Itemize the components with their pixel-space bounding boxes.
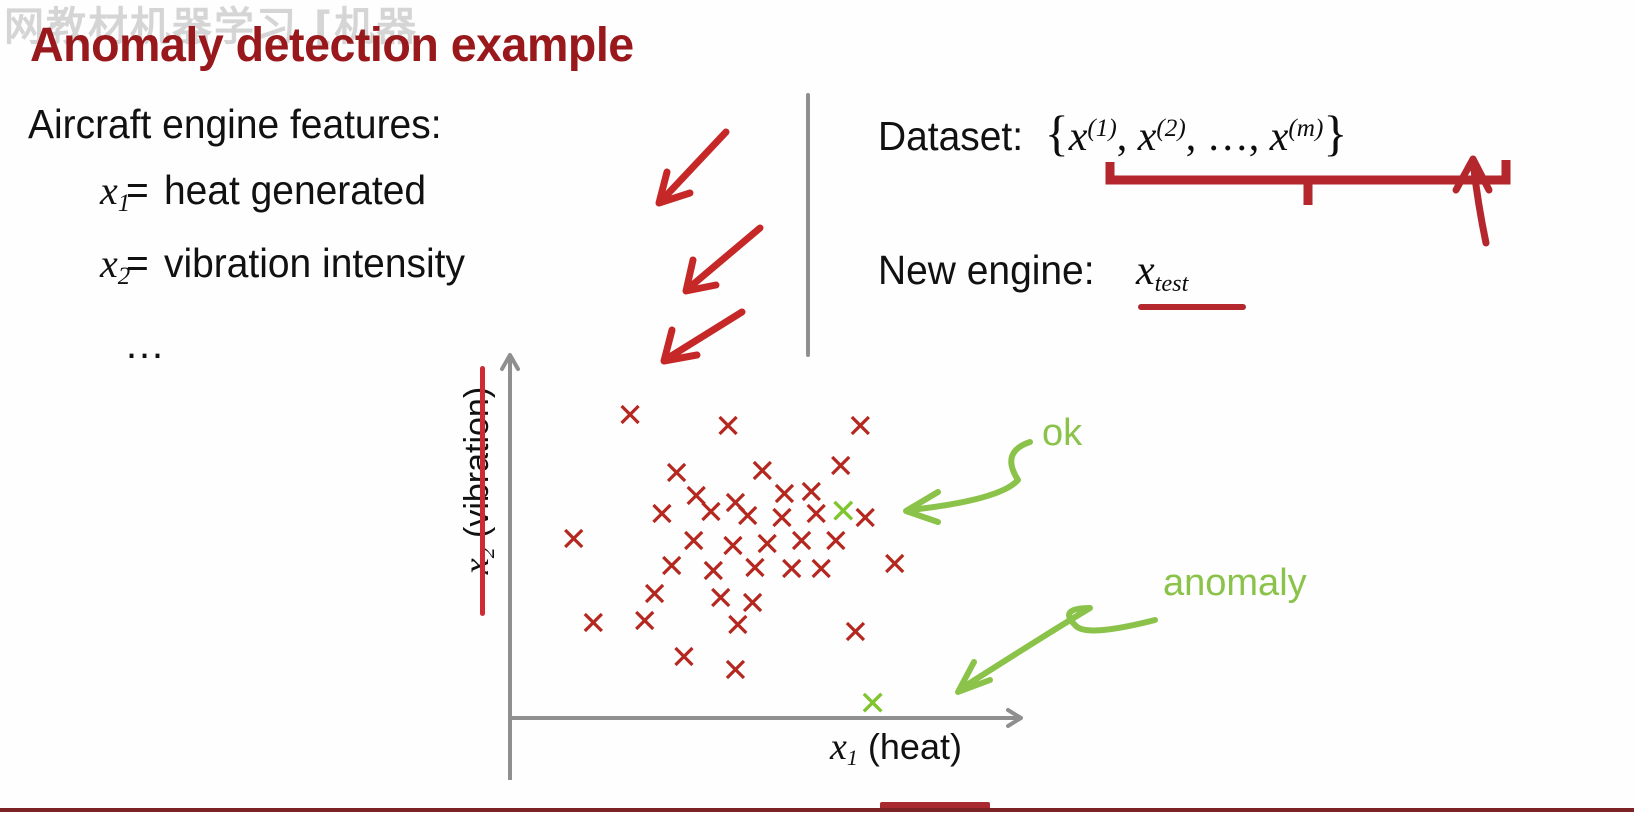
scatter-marker: ✕ <box>807 553 835 586</box>
bottom-rule <box>0 808 1634 812</box>
scatter-marker: ✕ <box>827 449 855 482</box>
scatter-marker: ✕ <box>700 555 728 588</box>
scatter-marker: ✕ <box>734 499 762 532</box>
scatter-marker: ✕ <box>663 456 691 489</box>
xtest-underline <box>1138 304 1246 310</box>
scatter-marker: ✕ <box>741 551 769 584</box>
scatter-marker-highlight: ✕ <box>858 687 887 721</box>
x-axis-label: x1 (heat) <box>830 725 962 771</box>
scatter-marker: ✕ <box>768 501 796 534</box>
annotation-label-anomaly: anomaly <box>1163 562 1307 605</box>
y-axis-label: x2 (vibration) <box>455 387 500 574</box>
scatter-marker: ✕ <box>670 641 698 674</box>
scatter-marker: ✕ <box>680 524 708 557</box>
scatter-marker: ✕ <box>881 548 909 581</box>
feature-variable-x2: x2 <box>28 240 126 291</box>
dataset-set-notation: {x(1), x(2), …, x(m)} <box>1045 104 1348 162</box>
scatter-marker: ✕ <box>851 501 879 534</box>
scatter-marker: ✕ <box>560 523 588 556</box>
feature-equals-x1: = <box>126 167 149 214</box>
scatter-marker: ✕ <box>842 616 870 649</box>
feature-row-x2: x2 = vibration intensity <box>28 240 728 291</box>
scatter-marker: ✕ <box>719 530 747 563</box>
feature-text-x1: heat generated <box>164 167 426 214</box>
scatter-marker: ✕ <box>722 653 750 686</box>
scatter-marker: ✕ <box>631 605 659 638</box>
scatter-marker: ✕ <box>749 454 777 487</box>
scatter-marker: ✕ <box>739 587 767 620</box>
new-engine-label: New engine: <box>878 247 1095 294</box>
scatter-marker: ✕ <box>682 480 710 513</box>
scatter-marker: ✕ <box>798 476 826 509</box>
scatter-marker: ✕ <box>788 524 816 557</box>
scatter-marker: ✕ <box>697 496 725 529</box>
scatter-marker: ✕ <box>648 497 676 530</box>
slide-canvas: 网教材机器学习 [机器 Anomaly detection example Ai… <box>0 0 1634 814</box>
dataset-label: Dataset: <box>878 113 1023 160</box>
scatter-marker-highlight: ✕ <box>829 495 858 529</box>
scatter-marker: ✕ <box>753 528 781 561</box>
scatter-chart: x2 (vibration) x1 (heat) ✕✕✕✕✕✕✕✕✕✕✕✕✕✕✕… <box>440 340 1080 780</box>
left-panel: Aircraft engine features: x1 = heat gene… <box>28 104 728 368</box>
scatter-marker: ✕ <box>847 410 875 443</box>
right-panel: Dataset: {x(1), x(2), …, x(m)} New engin… <box>878 104 1347 298</box>
scatter-marker: ✕ <box>771 478 799 511</box>
feature-variable-x1: x1 <box>28 167 126 218</box>
scatter-marker: ✕ <box>722 487 750 520</box>
scatter-marker: ✕ <box>714 410 742 443</box>
red-arrow-to-xm <box>1456 159 1489 243</box>
feature-text-x2: vibration intensity <box>164 240 465 287</box>
new-engine-line: New engine: xtest <box>878 247 1347 298</box>
scatter-marker: ✕ <box>658 549 686 582</box>
y-axis-label-underline <box>480 366 485 616</box>
aircraft-features-heading: Aircraft engine features: <box>28 104 693 145</box>
scatter-marker: ✕ <box>616 399 644 432</box>
dataset-line: Dataset: {x(1), x(2), …, x(m)} <box>878 104 1347 162</box>
scatter-marker: ✕ <box>778 553 806 586</box>
page-title: Anomaly detection example <box>30 18 634 73</box>
new-engine-value: xtest <box>1136 248 1188 294</box>
scatter-marker: ✕ <box>579 607 607 640</box>
feature-equals-x2: = <box>126 240 149 287</box>
scatter-marker: ✕ <box>822 524 850 557</box>
scatter-marker: ✕ <box>724 608 752 641</box>
scatter-marker: ✕ <box>641 578 669 611</box>
column-divider <box>806 93 810 357</box>
new-engine-value-wrap: xtest <box>1136 247 1188 298</box>
scatter-marker: ✕ <box>802 497 830 530</box>
scatter-marker: ✕ <box>707 582 735 615</box>
feature-row-x1: x1 = heat generated <box>28 167 728 218</box>
annotation-label-ok: ok <box>1042 412 1082 455</box>
